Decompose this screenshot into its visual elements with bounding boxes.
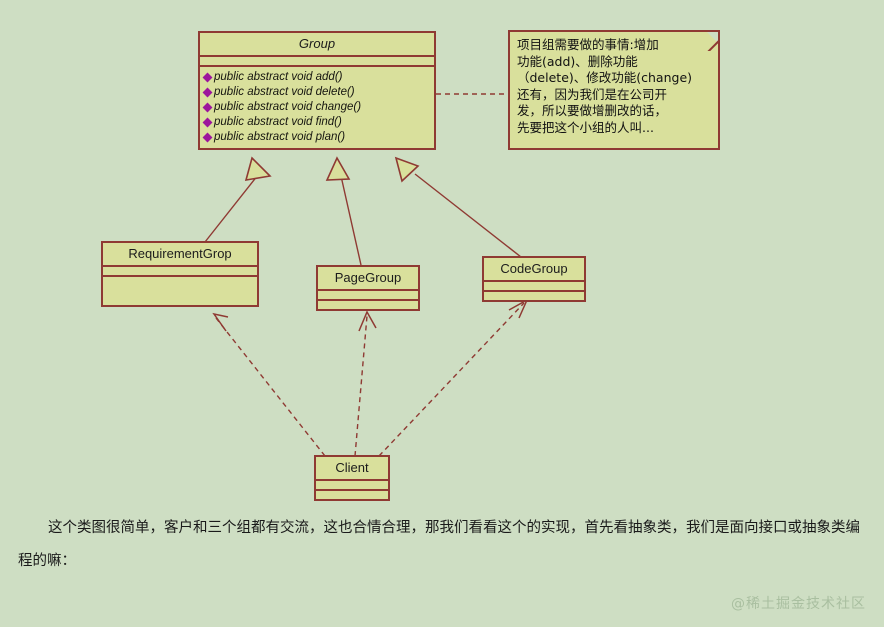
visibility-diamond-icon	[203, 88, 213, 98]
method-label: public abstract void find()	[214, 115, 342, 130]
dependency-line-client-requirementgrop	[216, 318, 325, 456]
class-attributes-group	[200, 57, 434, 65]
visibility-diamond-icon	[203, 73, 213, 83]
visibility-diamond-icon	[203, 118, 213, 128]
note-line: （delete)、修改功能(change)	[517, 70, 711, 87]
dependency-line-client-pagegroup	[355, 316, 367, 456]
class-name-codegroup: CodeGroup	[484, 258, 584, 280]
method-row: public abstract void change()	[204, 100, 430, 115]
method-label: public abstract void add()	[214, 70, 342, 85]
method-row: public abstract void add()	[204, 70, 430, 85]
class-name-pagegroup: PageGroup	[318, 267, 418, 289]
note-line: 发，所以要做增删改的话，	[517, 103, 711, 120]
note-line: 先要把这个小组的人叫...	[517, 120, 711, 137]
generalization-line-requirementgrop	[205, 175, 258, 242]
generalization-line-codegroup	[415, 174, 521, 257]
dependency-arrow-client-requirementgrop	[214, 314, 228, 331]
class-name-group: Group	[200, 33, 434, 55]
method-label: public abstract void change()	[214, 100, 361, 115]
visibility-diamond-icon	[203, 133, 213, 143]
visibility-diamond-icon	[203, 103, 213, 113]
class-methods-group: public abstract void add() public abstra…	[200, 67, 434, 148]
class-methods-client	[316, 491, 388, 499]
note-fold-line-icon	[699, 30, 720, 51]
class-attributes-pagegroup	[318, 291, 418, 299]
note-line: 还有，因为我们是在公司开	[517, 87, 711, 104]
dependency-line-client-codegroup	[379, 303, 524, 456]
class-box-codegroup[interactable]: CodeGroup	[482, 256, 586, 302]
class-attributes-requirementgrop	[103, 267, 257, 275]
class-box-requirementgrop[interactable]: RequirementGrop	[101, 241, 259, 307]
method-row: public abstract void plan()	[204, 130, 430, 145]
class-methods-requirementgrop	[103, 277, 257, 305]
dependency-arrow-client-codegroup	[509, 300, 527, 318]
generalization-arrow-codegroup	[396, 158, 418, 181]
method-row: public abstract void find()	[204, 115, 430, 130]
dependency-arrow-client-pagegroup	[359, 312, 376, 331]
caption-text: 这个类图很简单，客户和三个组都有交流，这也合情合理，那我们看看这个的实现，首先看…	[18, 512, 868, 578]
watermark: @稀土掘金技术社区	[731, 593, 866, 613]
generalization-arrow-requirementgrop	[246, 158, 270, 180]
generalization-arrow-pagegroup	[327, 158, 349, 180]
class-methods-codegroup	[484, 292, 584, 300]
diagram-canvas: Group public abstract void add() public …	[0, 0, 884, 627]
note-line: 项目组需要做的事情:增加	[517, 37, 711, 54]
class-box-client[interactable]: Client	[314, 455, 390, 501]
generalization-line-pagegroup	[341, 176, 361, 265]
class-name-client: Client	[316, 457, 388, 479]
note-line: 功能(add)、删除功能	[517, 54, 711, 71]
method-row: public abstract void delete()	[204, 85, 430, 100]
class-box-pagegroup[interactable]: PageGroup	[316, 265, 420, 311]
class-attributes-codegroup	[484, 282, 584, 290]
class-methods-pagegroup	[318, 301, 418, 309]
method-label: public abstract void plan()	[214, 130, 345, 145]
class-box-group[interactable]: Group public abstract void add() public …	[198, 31, 436, 150]
method-label: public abstract void delete()	[214, 85, 355, 100]
class-name-requirementgrop: RequirementGrop	[103, 243, 257, 265]
note-box[interactable]: 项目组需要做的事情:增加 功能(add)、删除功能 （delete)、修改功能(…	[508, 30, 720, 150]
class-attributes-client	[316, 481, 388, 489]
